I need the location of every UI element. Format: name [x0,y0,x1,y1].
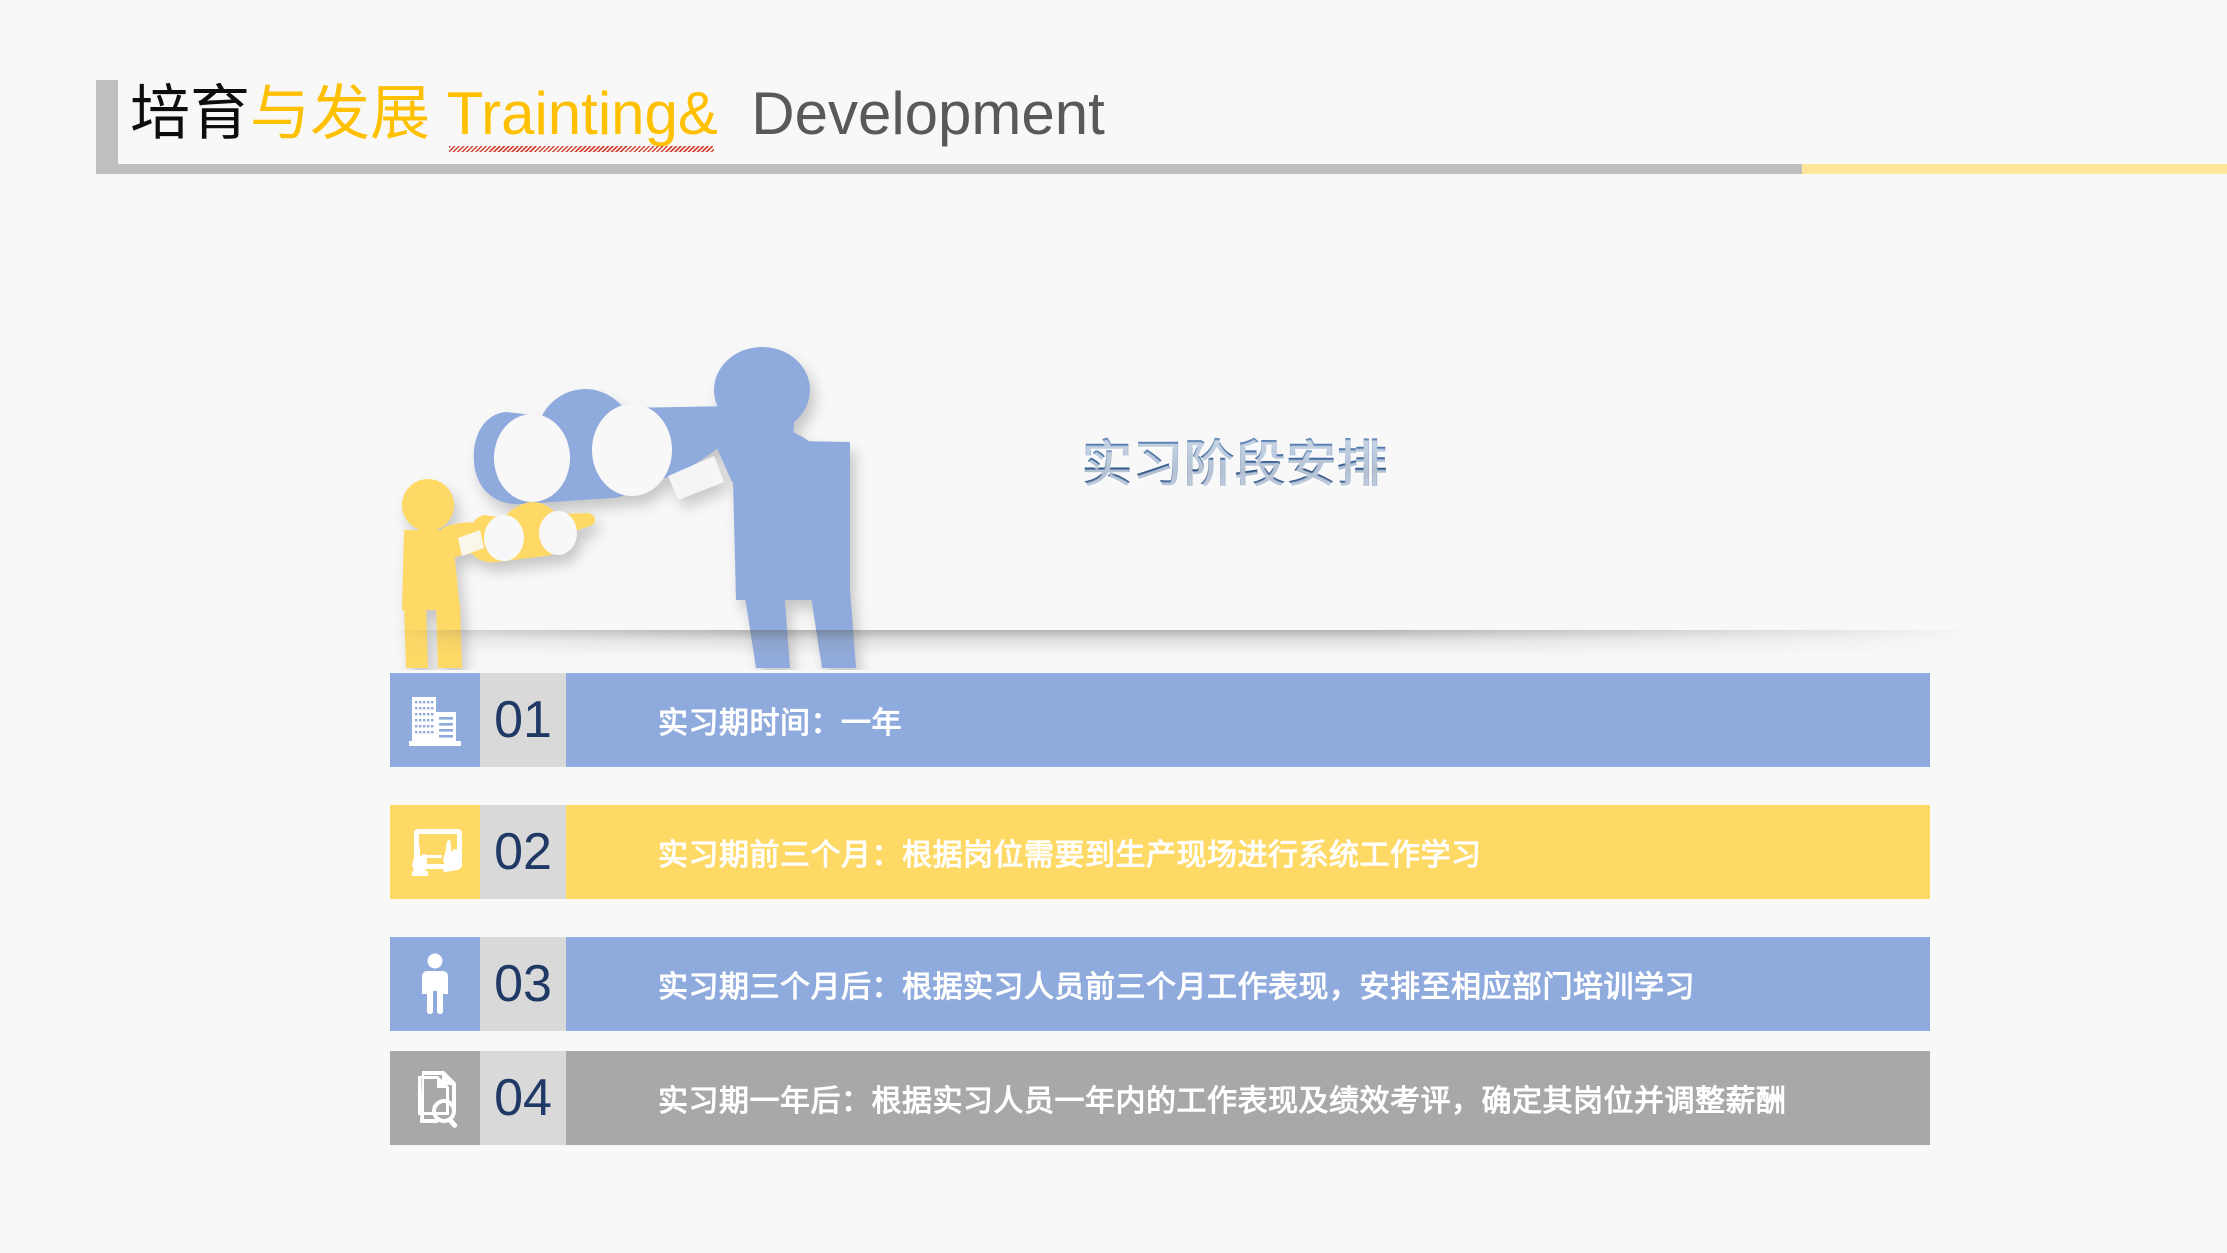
binoculars-people-illustration [380,290,900,670]
stage-number-04: 04 [480,1051,566,1145]
stage-row-01[interactable]: 01 实习期时间：一年 [390,673,1930,767]
page-title: 培育与发展 Trainting& Development [130,72,1105,156]
title-part-en-gray: Development [751,80,1105,147]
section-heading: 实习阶段安排 [1082,432,1388,496]
header-divider-amber-segment [1802,164,2227,174]
stage-text-02: 实习期前三个月：根据岗位需要到生产现场进行系统工作学习 [566,805,1930,899]
stage-number-03: 03 [480,937,566,1031]
ground-shadow [390,630,1980,656]
stage-number-02: 02 [480,805,566,899]
document-search-icon [390,1051,480,1145]
tablet-touch-hands-icon [390,805,480,899]
office-building-icon [390,673,480,767]
title-part-en-amber: Trainting& [447,72,718,156]
header-divider-rule [96,164,2227,174]
stage-row-02[interactable]: 02 实习期前三个月：根据岗位需要到生产现场进行系统工作学习 [390,805,1930,899]
stage-number-01: 01 [480,673,566,767]
title-part-en-amber-text: Trainting& [447,80,718,147]
stage-row-03[interactable]: 03 实习期三个月后：根据实习人员前三个月工作表现，安排至相应部门培训学习 [390,937,1930,1031]
title-accent-bar [96,80,118,168]
slide-header: 培育与发展 Trainting& Development [0,0,2227,200]
title-part-cn-amber: 与发展 [250,80,430,147]
spellcheck-squiggle-underline [449,146,714,152]
slide-canvas: 培育与发展 Trainting& Development [0,0,2227,1253]
stage-row-04[interactable]: 04 实习期一年后：根据实习人员一年内的工作表现及绩效考评，确定其岗位并调整薪酬 [390,1051,1930,1145]
person-standing-icon [390,937,480,1031]
header-divider-gray-segment [96,164,1802,174]
title-part-cn-dark: 培育 [130,80,250,147]
stage-text-03: 实习期三个月后：根据实习人员前三个月工作表现，安排至相应部门培训学习 [566,937,1930,1031]
stage-text-01: 实习期时间：一年 [566,673,1930,767]
stage-text-04: 实习期一年后：根据实习人员一年内的工作表现及绩效考评，确定其岗位并调整薪酬 [566,1051,1930,1145]
